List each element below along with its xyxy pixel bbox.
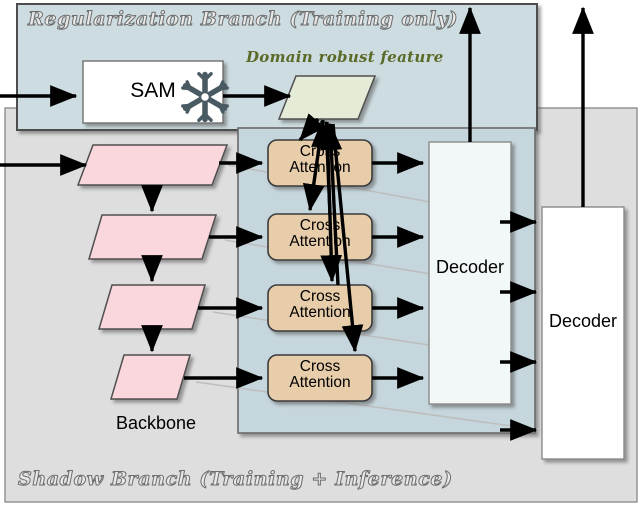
- backbone-stage-2[interactable]: [89, 215, 216, 259]
- diagram-canvas: Regularization Branch (Training only) Sh…: [0, 0, 640, 506]
- cross-attention-block-4[interactable]: [268, 355, 372, 401]
- sam-block[interactable]: [83, 61, 223, 123]
- decoder-regularization-block[interactable]: [429, 142, 511, 404]
- backbone-stage-3[interactable]: [99, 285, 205, 329]
- domain-robust-feature-block[interactable]: [279, 76, 375, 119]
- cross-attention-block-2[interactable]: [268, 214, 372, 260]
- backbone-stage-4[interactable]: [111, 355, 190, 399]
- cross-attention-block-3[interactable]: [268, 285, 372, 331]
- backbone-stage-1[interactable]: [78, 145, 227, 185]
- decoder-shadow-block[interactable]: [542, 207, 624, 459]
- diagram-svg: [0, 0, 640, 506]
